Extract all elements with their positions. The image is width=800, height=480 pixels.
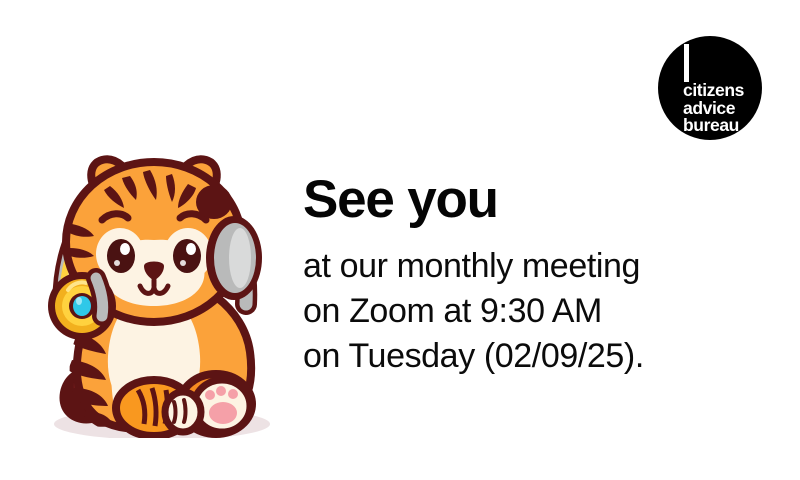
headphone-indicator-light xyxy=(73,296,91,316)
logo-line-3: bureau xyxy=(683,117,761,135)
message-line-3: on Tuesday (02/09/25). xyxy=(303,334,773,379)
headline: See you xyxy=(303,172,773,228)
message-line-1: at our monthly meeting xyxy=(303,244,773,289)
tiger-with-headphones-illustration xyxy=(26,108,276,438)
paw-pad-main xyxy=(209,402,237,424)
poster-canvas: See you at our monthly meeting on Zoom a… xyxy=(0,0,800,480)
logo-bar-mark xyxy=(684,44,689,82)
message-lines: at our monthly meeting on Zoom at 9:30 A… xyxy=(303,244,773,379)
message-text-block: See you at our monthly meeting on Zoom a… xyxy=(303,172,773,379)
message-line-2: on Zoom at 9:30 AM xyxy=(303,289,773,334)
logo-wordmark: citizens advice bureau xyxy=(683,82,761,135)
citizens-advice-bureau-logo: citizens advice bureau xyxy=(658,36,764,142)
logo-line-1: citizens xyxy=(683,82,761,100)
